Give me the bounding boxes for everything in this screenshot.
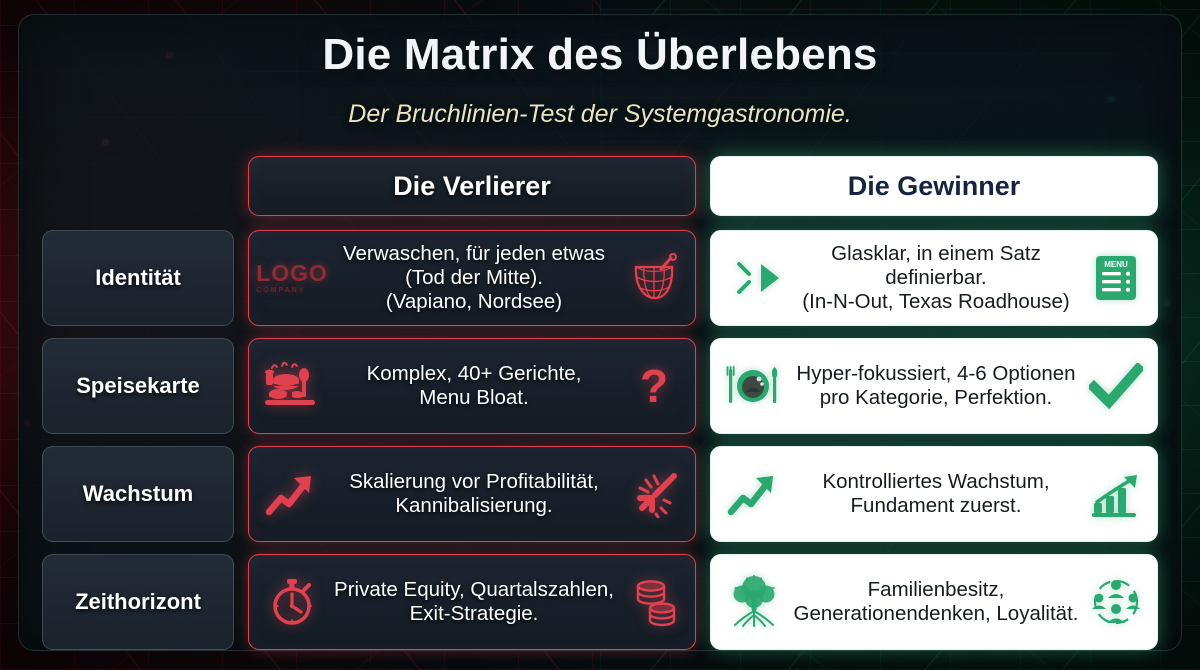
column-header-winners-label: Die Gewinner — [848, 171, 1021, 202]
faded-logo-icon: LOGO COMPANY — [259, 262, 325, 294]
row-label-text: Wachstum — [83, 481, 193, 507]
cell-winners-wachstum[interactable]: Kontrolliertes Wachstum, Fundament zuers… — [710, 446, 1158, 542]
column-header-winners[interactable]: Die Gewinner — [710, 156, 1158, 216]
row-label-wachstum[interactable]: Wachstum — [42, 446, 234, 542]
cell-losers-identitaet[interactable]: LOGO COMPANY Verwaschen, für jeden etwas… — [248, 230, 696, 326]
row-label-text: Identität — [95, 265, 181, 291]
matrix-row-zeithorizont: Zeithorizont Private Equity, Quartalszah… — [42, 554, 1158, 650]
column-header-losers[interactable]: Die Verlierer — [248, 156, 696, 216]
plate-cutlery-icon — [721, 361, 787, 411]
question-mark-icon: ? — [623, 363, 685, 409]
cell-text: Skalierung vor Profitabilität, Kannibali… — [331, 470, 617, 518]
coin-stack-icon — [623, 577, 685, 627]
checkmark-icon — [1085, 363, 1147, 409]
cell-winners-zeithorizont[interactable]: Familienbesitz, Generationendenken, Loya… — [710, 554, 1158, 650]
cell-text: Komplex, 40+ Gerichte, Menu Bloat. — [331, 362, 617, 410]
faded-logo-text: LOGO — [256, 260, 328, 286]
cell-text: Private Equity, Quartalszahlen, Exit-Str… — [331, 578, 617, 626]
infographic-stage: Die Matrix des Überlebens Der Bruchlinie… — [0, 0, 1200, 670]
matrix-row-speisekarte: Speisekarte — [42, 338, 1158, 434]
matrix-row-wachstum: Wachstum Skalierung vor Profitabilität, … — [42, 446, 1158, 542]
cell-winners-speisekarte[interactable]: Hyper-fokussiert, 4-6 Optionen pro Kateg… — [710, 338, 1158, 434]
page-title: Die Matrix des Überlebens — [0, 30, 1200, 80]
row-label-text: Speisekarte — [76, 373, 200, 399]
trend-up-arrow-icon — [259, 470, 325, 518]
cell-winners-identitaet[interactable]: Glasklar, in einem Satz definierbar. (In… — [710, 230, 1158, 326]
cell-losers-zeithorizont[interactable]: Private Equity, Quartalszahlen, Exit-Str… — [248, 554, 696, 650]
row-label-zeithorizont[interactable]: Zeithorizont — [42, 554, 234, 650]
cell-text: Hyper-fokussiert, 4-6 Optionen pro Kateg… — [793, 362, 1079, 410]
cell-text: Kontrolliertes Wachstum, Fundament zuers… — [793, 470, 1079, 518]
cell-text: Verwaschen, für jeden etwas (Tod der Mit… — [331, 242, 617, 314]
menu-card-icon: MENU — [1085, 253, 1147, 303]
question-mark-glyph: ? — [640, 363, 668, 409]
column-header-losers-label: Die Verlierer — [393, 171, 551, 202]
impact-collision-icon — [623, 470, 685, 518]
people-network-icon — [1085, 576, 1147, 628]
growth-bar-chart-icon — [1085, 469, 1147, 519]
row-label-speisekarte[interactable]: Speisekarte — [42, 338, 234, 434]
cell-losers-speisekarte[interactable]: Komplex, 40+ Gerichte, Menu Bloat. ? — [248, 338, 696, 434]
trend-up-arrow-icon — [721, 470, 787, 518]
faded-logo-subtext: COMPANY — [256, 287, 328, 294]
page-subtitle: Der Bruchlinien-Test der Systemgastronom… — [0, 100, 1200, 129]
cell-text: Glasklar, in einem Satz definierbar. (In… — [793, 242, 1079, 314]
arrow-right-icon — [721, 255, 787, 301]
comparison-matrix: Die Verlierer Die Gewinner Identität LOG… — [42, 156, 1158, 662]
fishing-net-icon — [623, 253, 685, 303]
row-label-text: Zeithorizont — [75, 589, 201, 615]
matrix-row-identitaet: Identität LOGO COMPANY Verwaschen, für j… — [42, 230, 1158, 326]
row-label-identitaet[interactable]: Identität — [42, 230, 234, 326]
tree-with-roots-icon — [721, 575, 787, 629]
svg-text:MENU: MENU — [1104, 260, 1128, 269]
cell-losers-wachstum[interactable]: Skalierung vor Profitabilität, Kannibali… — [248, 446, 696, 542]
header-corner-spacer — [42, 156, 234, 216]
cell-text: Familienbesitz, Generationendenken, Loya… — [793, 578, 1079, 626]
matrix-header-row: Die Verlierer Die Gewinner — [42, 156, 1158, 216]
overloaded-food-platter-icon — [259, 359, 325, 413]
stopwatch-icon — [259, 576, 325, 628]
